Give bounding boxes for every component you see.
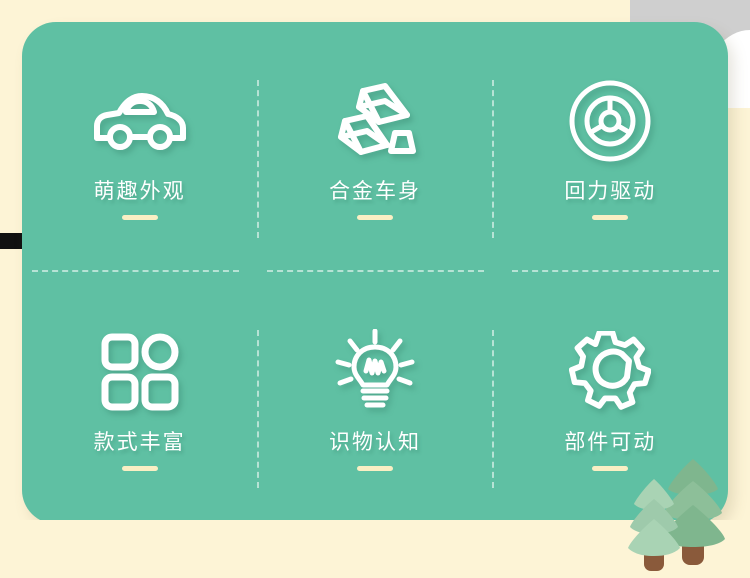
feature-label: 部件可动: [564, 432, 656, 453]
feature-label: 萌趣外观: [94, 181, 186, 202]
feature-label: 回力驱动: [564, 181, 656, 202]
pine-trees-decor: [610, 453, 740, 578]
lightbulb-icon: [323, 326, 427, 418]
feature-label: 识物认知: [329, 432, 421, 453]
divider-horizontal: [267, 270, 484, 272]
feature-cell-object-recognition[interactable]: 识物认知: [257, 273, 492, 524]
label-underline: [122, 466, 158, 471]
label-underline: [592, 215, 628, 220]
steering-wheel-icon: [558, 75, 662, 167]
label-underline: [357, 215, 393, 220]
divider-horizontal: [32, 270, 239, 272]
label-underline: [122, 215, 158, 220]
feature-grid: 萌趣外观 合金车身: [22, 22, 728, 524]
feature-card: 萌趣外观 合金车身: [22, 22, 728, 524]
grid-shapes-icon: [88, 326, 192, 418]
feature-label: 合金车身: [329, 181, 421, 202]
label-underline: [357, 466, 393, 471]
car-icon: [88, 75, 192, 167]
divider-vertical: [492, 330, 494, 488]
divider-vertical: [257, 330, 259, 488]
gear-icon: [558, 326, 662, 418]
feature-label: 款式丰富: [94, 432, 186, 453]
feature-cell-appearance[interactable]: 萌趣外观: [22, 22, 257, 273]
gold-ingots-icon: [323, 75, 427, 167]
divider-horizontal: [512, 270, 719, 272]
divider-vertical: [257, 80, 259, 238]
feature-cell-pullback-drive[interactable]: 回力驱动: [493, 22, 728, 273]
feature-cell-alloy-body[interactable]: 合金车身: [257, 22, 492, 273]
divider-vertical: [492, 80, 494, 238]
feature-cell-rich-styles[interactable]: 款式丰富: [22, 273, 257, 524]
pine-tree-small: [628, 479, 680, 571]
